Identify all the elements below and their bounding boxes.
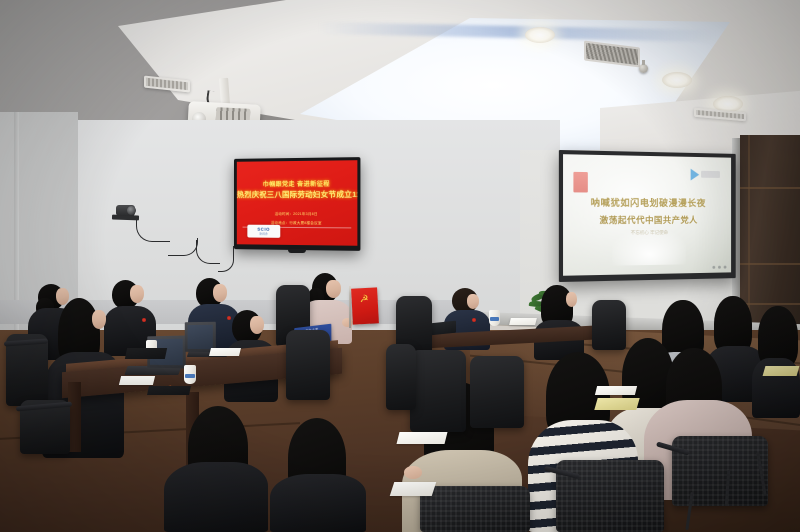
presenter-face <box>326 280 341 298</box>
notebook-open <box>390 482 437 496</box>
projection-screen-surface: 呐喊犹如闪电划破漫漫长夜 激荡起代代中国共产党人 不忘初心 牢记使命 <box>563 154 731 276</box>
downlight-icon <box>662 72 692 88</box>
projection-line-2: 激荡起代代中国共产党人 <box>563 214 731 226</box>
office-chair[interactable] <box>592 300 626 350</box>
projection-line-1: 呐喊犹如闪电划破漫漫长夜 <box>563 194 731 209</box>
mesh-office-chair[interactable] <box>672 436 768 506</box>
paper-sheet <box>397 432 448 444</box>
led-headline-primary: 巾帼跟党走 奋进新征程 <box>237 178 358 188</box>
projection-corner-badge <box>574 171 588 192</box>
attendee-face <box>92 310 106 329</box>
downlight-icon <box>525 27 555 43</box>
yellow-notepad <box>594 398 639 410</box>
video-settings-icon[interactable] <box>712 266 715 269</box>
led-headline-secondary: 热烈庆祝三八国际劳动妇女节成立111周年 <box>237 188 358 199</box>
lapel-badge-icon <box>472 318 476 322</box>
attendee-hand <box>404 466 422 479</box>
mesh-office-chair[interactable] <box>420 486 530 532</box>
led-logo-badge: SCIO 新闻办 <box>247 225 280 238</box>
party-flag: ☭ <box>351 287 379 324</box>
coffee-cup[interactable] <box>489 310 500 326</box>
video-fullscreen-icon[interactable] <box>724 266 727 269</box>
attendee-torso <box>270 474 366 532</box>
lapel-badge-icon <box>227 316 231 320</box>
laptop-screen <box>188 325 213 349</box>
presenter-hand <box>342 318 353 327</box>
office-chair[interactable] <box>470 356 524 428</box>
attendee-torso <box>164 462 268 532</box>
video-watermark <box>691 168 720 180</box>
paper-sheet <box>119 376 155 385</box>
office-chair[interactable] <box>286 330 330 400</box>
play-icon <box>691 168 700 180</box>
conference-room-photo: 巾帼跟党走 奋进新征程 热烈庆祝三八国际劳动妇女节成立111周年 活动时间：20… <box>0 0 800 532</box>
paper-sheet <box>509 318 537 325</box>
flag-emblem-icon: ☭ <box>358 294 370 306</box>
led-display-frame[interactable]: 巾帼跟党走 奋进新征程 热烈庆祝三八国际劳动妇女节成立111周年 活动时间：20… <box>234 157 360 251</box>
attendee-face <box>250 316 264 334</box>
attendee-face <box>566 292 577 307</box>
led-subline-time: 活动时间：2021年3月8日 <box>237 212 358 217</box>
attendee-face <box>467 294 479 309</box>
projection-screen-frame[interactable]: 呐喊犹如闪电划破漫漫长夜 激荡起代代中国共产党人 不忘初心 牢记使命 <box>559 150 736 282</box>
led-display-stand <box>288 249 306 253</box>
camera-lens-icon <box>127 206 136 215</box>
mesh-office-chair[interactable] <box>556 460 664 532</box>
led-display-screen: 巾帼跟党走 奋进新征程 热烈庆祝三八国际劳动妇女节成立111周年 活动时间：20… <box>237 160 358 246</box>
projection-light-burst <box>612 229 686 265</box>
open-notebook <box>125 348 167 359</box>
video-control-buttons[interactable] <box>712 266 726 269</box>
led-logo-secondary-text: 新闻办 <box>259 232 268 236</box>
video-volume-icon[interactable] <box>718 266 721 269</box>
paper-sheet <box>209 348 241 356</box>
attendee-face <box>130 285 144 303</box>
office-chair[interactable] <box>410 350 466 432</box>
coffee-cup[interactable] <box>184 365 196 384</box>
office-chair[interactable] <box>386 344 416 410</box>
paper-sheet <box>595 386 637 395</box>
sprinkler-head-icon <box>639 64 648 73</box>
lapel-badge-icon <box>142 318 146 322</box>
yellow-notepad <box>763 366 800 376</box>
attendee-face <box>213 284 227 302</box>
notebook-closed <box>147 386 191 395</box>
watermark-box <box>701 171 720 178</box>
